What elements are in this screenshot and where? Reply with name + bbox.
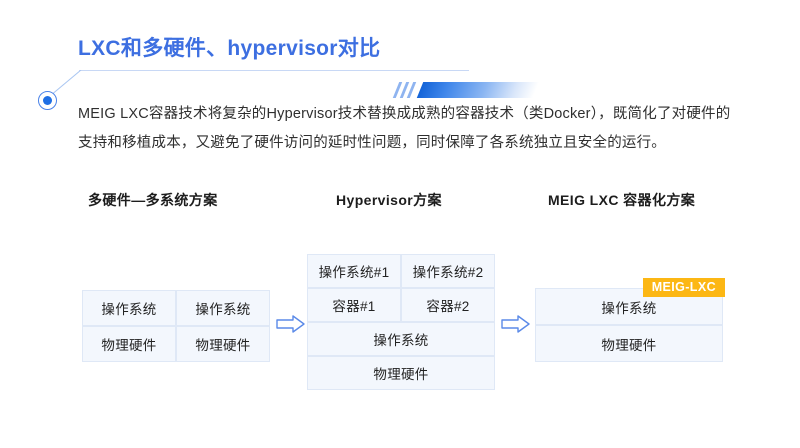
arrow-middle-to-right-icon — [501, 314, 531, 334]
title-block: LXC和多硬件、hypervisor对比 — [0, 28, 800, 98]
diagram-cell: 物理硬件 — [307, 356, 495, 390]
column-heading-multi-hardware: 多硬件—多系统方案 — [88, 190, 218, 210]
diagram-stack-multi-hardware: 操作系统 操作系统 物理硬件 物理硬件 — [82, 290, 270, 362]
page-title: LXC和多硬件、hypervisor对比 — [78, 32, 380, 62]
column-heading-meig-lxc: MEIG LXC 容器化方案 — [548, 190, 695, 210]
diagram-cell: 物理硬件 — [82, 326, 176, 362]
diagram-cell: 操作系统#1 — [307, 254, 401, 288]
body-paragraph: MEIG LXC容器技术将复杂的Hypervisor技术替换成成熟的容器技术（类… — [78, 100, 738, 158]
arrow-left-to-middle-icon — [276, 314, 306, 334]
diagram-cell: 物理硬件 — [176, 326, 270, 362]
title-underline — [79, 70, 469, 71]
diagram-cell: 物理硬件 — [535, 325, 723, 362]
diagram-cell: 操作系统 — [176, 290, 270, 326]
diagram-cell: 操作系统 — [82, 290, 176, 326]
bullet-dot-icon — [38, 91, 57, 110]
diagram-stack-hypervisor: 操作系统#1 操作系统#2 容器#1 容器#2 操作系统 物理硬件 — [307, 254, 495, 390]
slide-root: LXC和多硬件、hypervisor对比 MEIG LXC容器技术将复杂的Hyp… — [0, 0, 800, 448]
deco-gradient-bar — [417, 82, 539, 98]
diagram-cell: 容器#1 — [307, 288, 401, 322]
diagram-cell: 操作系统 — [307, 322, 495, 356]
status-badge-meig-lxc: MEIG-LXC — [643, 278, 725, 297]
column-heading-hypervisor: Hypervisor方案 — [336, 190, 442, 210]
diagram-cell: 操作系统#2 — [401, 254, 495, 288]
diagram-cell: 容器#2 — [401, 288, 495, 322]
title-decoration — [396, 82, 536, 98]
diagram-stack-meig-lxc: 操作系统 物理硬件 MEIG-LXC — [535, 288, 723, 362]
